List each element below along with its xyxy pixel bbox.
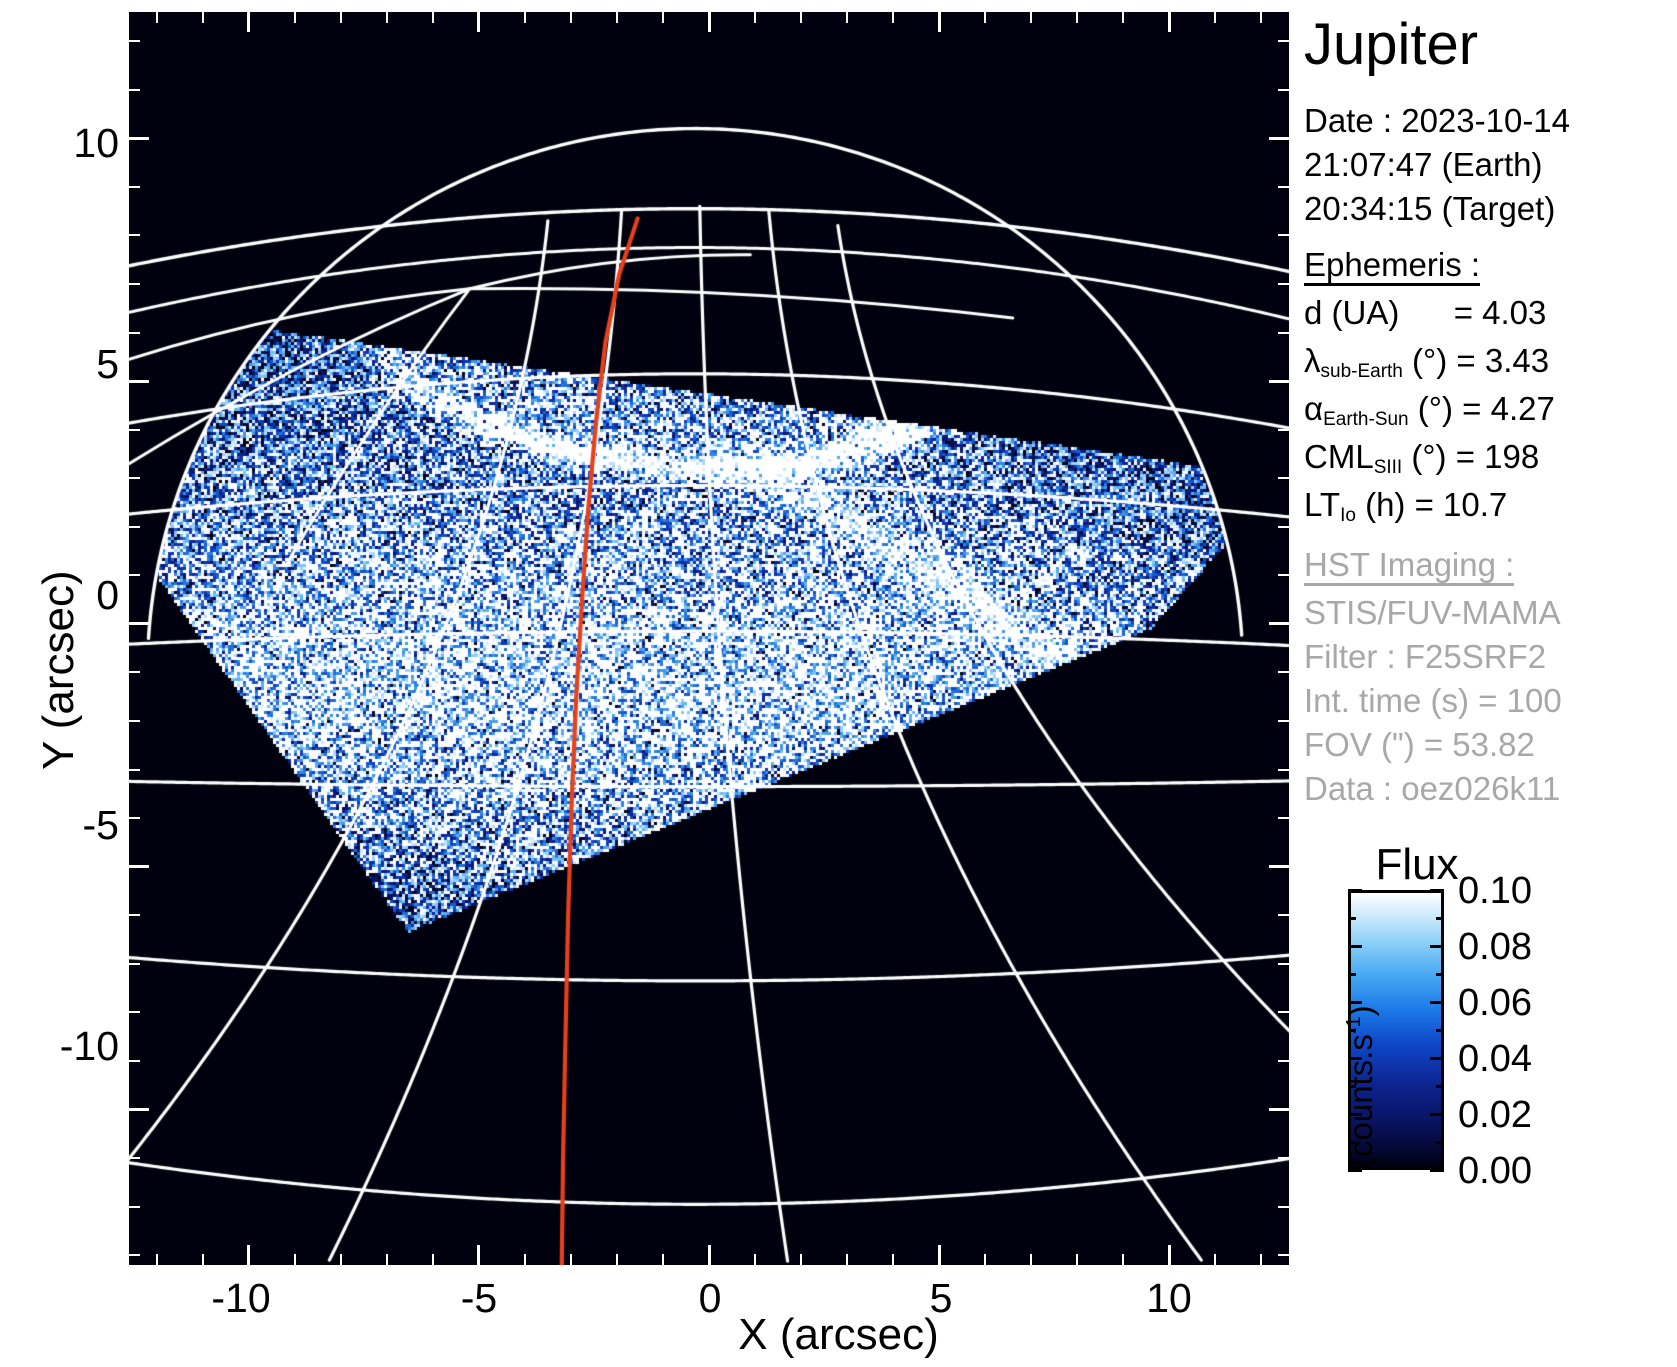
y-tick-label: 0 <box>96 575 119 616</box>
colorbar-tick <box>1436 1085 1444 1088</box>
colorbar-tick-label: 0.06 <box>1458 984 1532 1022</box>
y-axis-title: Y (arcsec) <box>34 570 84 770</box>
axis-tick <box>1278 1157 1289 1159</box>
cml-unit: (°) <box>1411 438 1446 475</box>
axis-tick <box>386 12 388 23</box>
axis-tick <box>129 429 140 431</box>
colorbar-tick-label: 0.04 <box>1458 1040 1532 1078</box>
axis-tick <box>754 1254 756 1265</box>
colorbar-tick <box>1348 1085 1356 1088</box>
axis-tick <box>662 1254 664 1265</box>
aurora-heatmap-canvas <box>129 12 1289 1265</box>
axis-tick <box>129 622 149 625</box>
colorbar-tick <box>1436 973 1444 976</box>
axis-tick <box>129 1254 140 1256</box>
axis-tick <box>754 12 756 23</box>
hst-fov: FOV (") = 53.82 <box>1304 728 1535 761</box>
axis-tick <box>1278 1060 1289 1062</box>
colorbar-tick <box>1348 973 1356 976</box>
axis-tick <box>662 12 664 23</box>
lambda-unit: (°) <box>1412 342 1447 379</box>
cml-value: = 198 <box>1456 438 1540 475</box>
alpha-subscript: Earth-Sun <box>1323 409 1409 430</box>
axis-tick <box>129 817 140 819</box>
axis-tick <box>1278 477 1289 479</box>
axis-tick <box>1278 1206 1289 1208</box>
axis-tick <box>129 137 149 140</box>
target-title: Jupiter <box>1304 16 1478 74</box>
axis-tick <box>1260 12 1262 23</box>
y-tick-label: -5 <box>83 805 119 846</box>
lambda-value: = 3.43 <box>1456 342 1549 379</box>
colorbar-tick <box>1430 889 1444 892</box>
colorbar-tick <box>1430 1001 1444 1004</box>
axis-tick <box>294 1254 296 1265</box>
axis-tick <box>1278 1254 1289 1256</box>
hst-header: HST Imaging : <box>1304 548 1514 586</box>
hst-header-text: HST Imaging : <box>1304 548 1514 586</box>
observation-date: Date : 2023-10-14 <box>1304 104 1570 137</box>
axis-tick <box>129 477 140 479</box>
axis-tick <box>1278 283 1289 285</box>
axis-tick <box>1278 914 1289 916</box>
lt-label: LT <box>1304 486 1340 523</box>
axis-tick <box>247 1245 250 1265</box>
axis-tick <box>524 12 526 23</box>
ephemeris-cml: CMLSIII (°) = 198 <box>1304 440 1539 477</box>
lt-subscript: Io <box>1340 505 1356 526</box>
hst-filter: Filter : F25SRF2 <box>1304 640 1546 673</box>
axis-tick <box>202 1254 204 1265</box>
axis-tick <box>800 12 802 23</box>
lambda-subscript: sub-Earth <box>1321 361 1403 382</box>
y-tick-label: 5 <box>96 344 119 385</box>
axis-tick <box>1122 1254 1124 1265</box>
axis-tick <box>1030 1254 1032 1265</box>
axis-tick <box>156 1254 158 1265</box>
observation-time-target: 20:34:15 (Target) <box>1304 192 1555 225</box>
axis-tick <box>129 234 140 236</box>
axis-tick <box>1260 1254 1262 1265</box>
axis-tick <box>1214 12 1216 23</box>
axis-tick <box>247 12 250 32</box>
colorbar-tick <box>1430 945 1444 948</box>
axis-tick <box>708 1245 711 1265</box>
axis-tick <box>570 12 572 23</box>
axis-tick <box>1076 1254 1078 1265</box>
ephemeris-header-text: Ephemeris : <box>1304 248 1480 286</box>
axis-tick <box>846 1254 848 1265</box>
axis-tick <box>129 769 140 771</box>
axis-tick <box>129 865 149 868</box>
axis-tick <box>129 914 140 916</box>
colorbar-tick-label: 0.02 <box>1458 1096 1532 1134</box>
lambda-symbol: λ <box>1304 342 1321 379</box>
axis-tick <box>1278 720 1289 722</box>
colorbar-tick-label: 0.10 <box>1458 872 1532 910</box>
colorbar-tick <box>1430 1057 1444 1060</box>
ephemeris-distance: d (UA) = 4.03 <box>1304 296 1546 329</box>
axis-tick <box>1269 137 1289 140</box>
axis-tick <box>616 12 618 23</box>
colorbar-tick-label: 0.08 <box>1458 928 1532 966</box>
axis-tick <box>1269 380 1289 383</box>
colorbar-tick <box>1348 1029 1356 1032</box>
axis-tick <box>1122 12 1124 23</box>
cml-label: CML <box>1304 438 1374 475</box>
axis-tick <box>1278 526 1289 528</box>
axis-tick <box>477 1245 480 1265</box>
axis-tick <box>1278 1011 1289 1013</box>
colorbar-tick <box>1348 917 1356 920</box>
x-axis-title: X (arcsec) <box>0 1310 1677 1360</box>
axis-tick <box>1168 1245 1171 1265</box>
axis-tick <box>938 12 941 32</box>
axis-tick <box>1278 332 1289 334</box>
alpha-symbol: α <box>1304 390 1323 427</box>
axis-tick <box>129 526 140 528</box>
ephemeris-header: Ephemeris : <box>1304 248 1480 286</box>
axis-tick <box>129 1108 149 1111</box>
colorbar-tick <box>1436 1141 1444 1144</box>
axis-tick <box>129 671 140 673</box>
axis-tick <box>1168 12 1171 32</box>
axis-tick <box>708 12 711 32</box>
colorbar-tick <box>1348 889 1362 892</box>
colorbar-tick <box>1430 1169 1444 1172</box>
axis-tick <box>129 1011 140 1013</box>
axis-tick <box>1278 429 1289 431</box>
colorbar-tick <box>1348 1001 1362 1004</box>
axis-tick <box>477 12 480 32</box>
axis-tick <box>129 1060 140 1062</box>
axis-tick <box>129 332 140 334</box>
axis-tick <box>1076 12 1078 23</box>
hst-dataset-id: Data : oez026k11 <box>1304 772 1560 805</box>
axis-tick <box>1214 1254 1216 1265</box>
axis-tick <box>1269 1108 1289 1111</box>
axis-tick <box>294 12 296 23</box>
axis-tick <box>386 1254 388 1265</box>
axis-tick <box>340 12 342 23</box>
cml-subscript: SIII <box>1374 457 1403 478</box>
colorbar-tick-label: 0.00 <box>1458 1152 1532 1190</box>
axis-tick <box>570 1254 572 1265</box>
colorbar-tick <box>1348 945 1362 948</box>
colorbar-tick <box>1348 1141 1356 1144</box>
axis-tick <box>129 1157 140 1159</box>
alpha-value: = 4.27 <box>1462 390 1555 427</box>
axis-tick <box>1278 234 1289 236</box>
axis-tick <box>984 12 986 23</box>
axis-tick <box>1278 574 1289 576</box>
axis-tick <box>129 186 140 188</box>
axis-tick <box>1278 963 1289 965</box>
colorbar-unit-prefix: (counts.s <box>1342 1034 1379 1168</box>
y-tick-label: -10 <box>60 1026 119 1067</box>
y-tick-label: 10 <box>73 123 119 164</box>
colorbar-tick <box>1436 917 1444 920</box>
axis-tick <box>524 1254 526 1265</box>
axis-tick <box>984 1254 986 1265</box>
observation-time-earth: 21:07:47 (Earth) <box>1304 148 1542 181</box>
axis-tick <box>1269 865 1289 868</box>
axis-tick <box>202 12 204 23</box>
colorbar-tick <box>1436 1029 1444 1032</box>
colorbar-tick <box>1348 1057 1362 1060</box>
axis-tick <box>129 40 140 42</box>
axis-tick <box>129 1206 140 1208</box>
aurora-image-plot <box>129 12 1289 1265</box>
axis-tick <box>1278 40 1289 42</box>
axis-tick <box>800 1254 802 1265</box>
axis-tick <box>892 12 894 23</box>
axis-tick <box>129 963 140 965</box>
colorbar-tick <box>1430 1113 1444 1116</box>
axis-tick <box>156 12 158 23</box>
axis-tick <box>938 1245 941 1265</box>
axis-tick <box>1278 186 1289 188</box>
hst-integration-time: Int. time (s) = 100 <box>1304 684 1562 717</box>
axis-tick <box>1278 769 1289 771</box>
ephemeris-phase-angle: αEarth-Sun (°) = 4.27 <box>1304 392 1555 429</box>
lt-value: = 10.7 <box>1415 486 1508 523</box>
flux-colorbar-group: Flux (counts.s-1) 0.10 0.08 0.06 0.04 0.… <box>1298 838 1677 1178</box>
axis-tick <box>340 1254 342 1265</box>
axis-tick <box>432 1254 434 1265</box>
distance-value: = 4.03 <box>1454 294 1547 331</box>
colorbar-unit-suffix: ) <box>1342 1005 1379 1016</box>
axis-tick <box>846 12 848 23</box>
axis-tick <box>616 1254 618 1265</box>
axis-tick <box>129 283 140 285</box>
ephemeris-sub-earth-latitude: λsub-Earth (°) = 3.43 <box>1304 344 1549 381</box>
axis-tick <box>1278 89 1289 91</box>
axis-tick <box>129 380 149 383</box>
axis-tick <box>432 12 434 23</box>
distance-label: d (UA) <box>1304 294 1399 331</box>
axis-tick <box>1278 817 1289 819</box>
axis-tick <box>129 89 140 91</box>
axis-tick <box>129 720 140 722</box>
axis-tick <box>1030 12 1032 23</box>
metadata-panel: Jupiter Date : 2023-10-14 21:07:47 (Eart… <box>1298 0 1677 820</box>
axis-tick <box>892 1254 894 1265</box>
colorbar-tick <box>1348 1169 1362 1172</box>
hst-instrument: STIS/FUV-MAMA <box>1304 596 1561 629</box>
alpha-unit: (°) <box>1418 390 1453 427</box>
ephemeris-io-local-time: LTIo (h) = 10.7 <box>1304 488 1507 525</box>
colorbar-tick <box>1348 1113 1362 1116</box>
lt-unit: (h) <box>1365 486 1405 523</box>
axis-tick <box>1278 671 1289 673</box>
axis-tick <box>129 574 140 576</box>
axis-tick <box>1269 622 1289 625</box>
